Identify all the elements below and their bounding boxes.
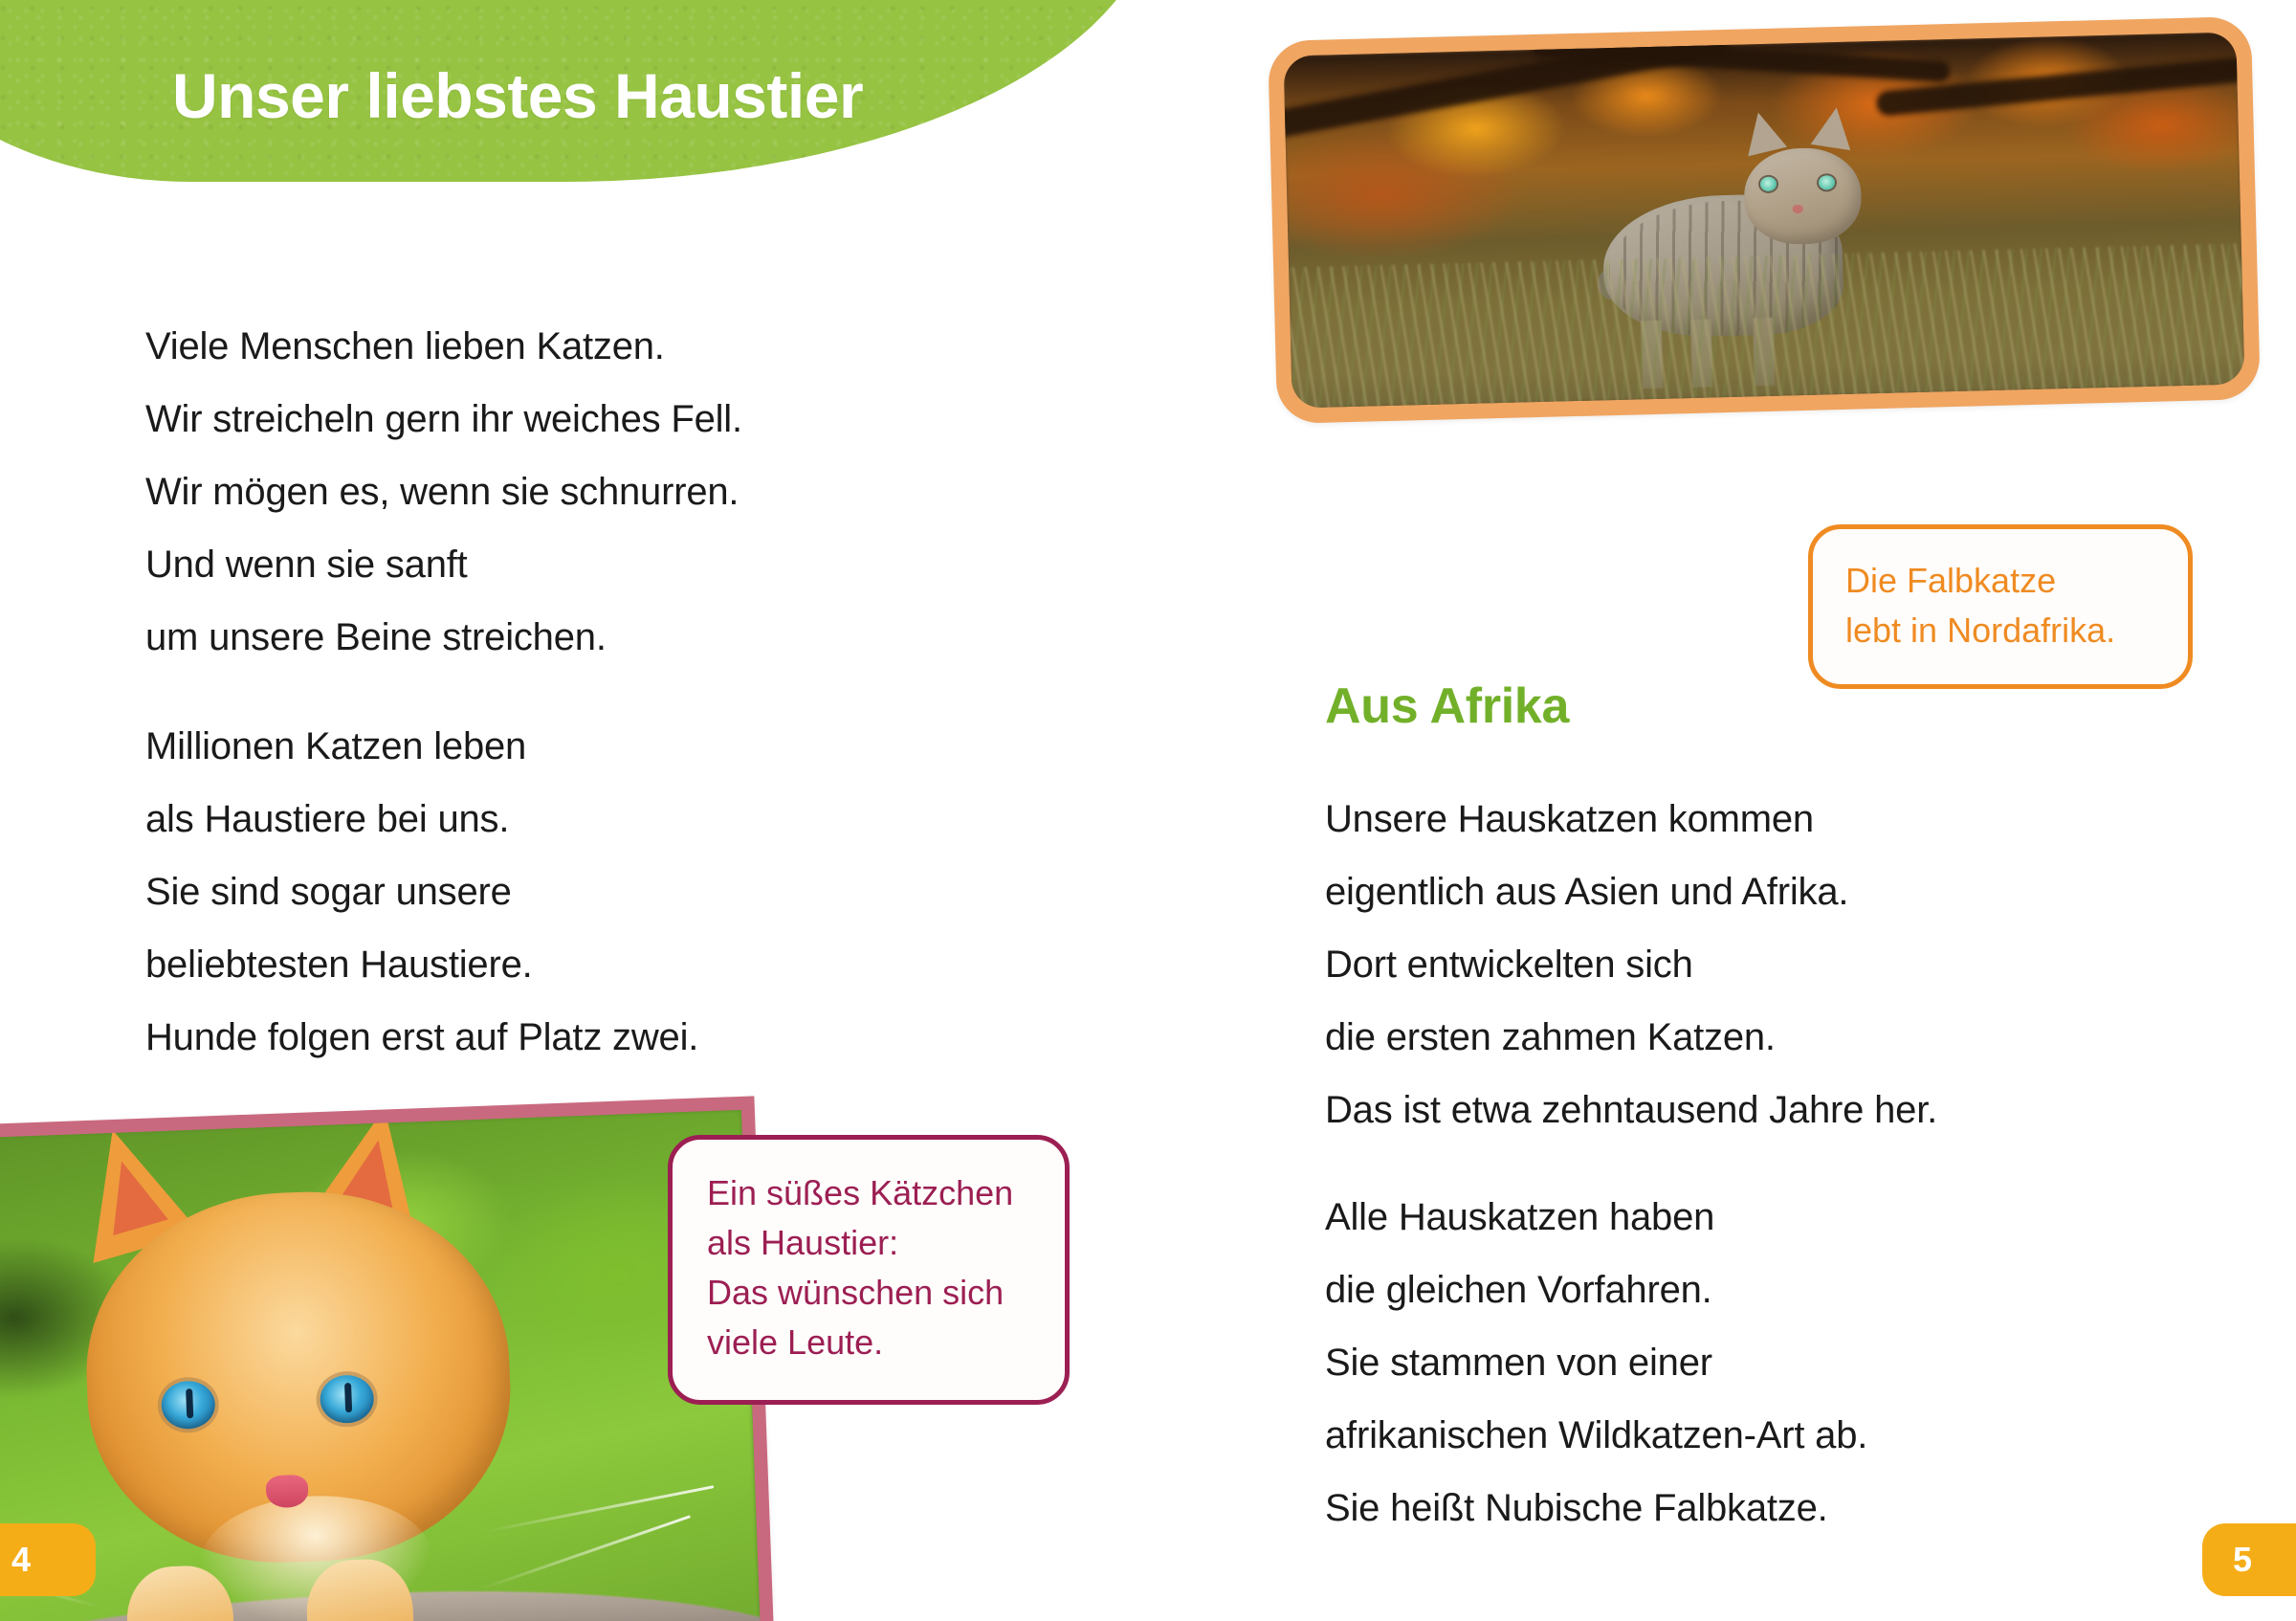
- left-paragraph-1: Viele Menschen lieben Katzen. Wir streic…: [145, 310, 930, 674]
- page-number-left: 4: [0, 1523, 96, 1596]
- wildcat-ear-right: [1811, 105, 1857, 151]
- wildcat-photo-frame: [1268, 16, 2261, 424]
- wildcat-nose: [1793, 204, 1803, 212]
- wildcat-photo-image: [1284, 32, 2245, 408]
- right-paragraph-1: Unsere Hauskatzen kommen eigentlich aus …: [1325, 783, 2119, 1146]
- wildcat-photo-grass: [1289, 243, 2244, 408]
- kitten-caption-bubble: Ein süßes Kätzchen als Haustier: Das wün…: [668, 1135, 1070, 1405]
- kitten-photo-image: [0, 1110, 762, 1621]
- right-paragraph-2: Alle Hauskatzen haben die gleichen Vorfa…: [1325, 1181, 2119, 1544]
- page-number-right: 5: [2202, 1523, 2296, 1596]
- wildcat-ear-left: [1738, 108, 1787, 157]
- wildcat-eye-left: [1759, 177, 1776, 191]
- wildcat-head: [1743, 146, 1862, 245]
- kitten-photo-frame: [0, 1096, 776, 1621]
- kitten-illustration: [26, 1128, 574, 1621]
- left-paragraph-2: Millionen Katzen leben als Haustiere bei…: [145, 710, 930, 1074]
- wildcat-caption-bubble: Die Falbkatze lebt in Nordafrika.: [1808, 524, 2193, 689]
- page-title: Unser liebstes Haustier: [172, 59, 863, 132]
- wildcat-eye-right: [1818, 175, 1834, 189]
- section-heading-aus-afrika: Aus Afrika: [1325, 677, 1569, 735]
- book-spread: Unser liebstes Haustier Viele Menschen l…: [0, 0, 2296, 1621]
